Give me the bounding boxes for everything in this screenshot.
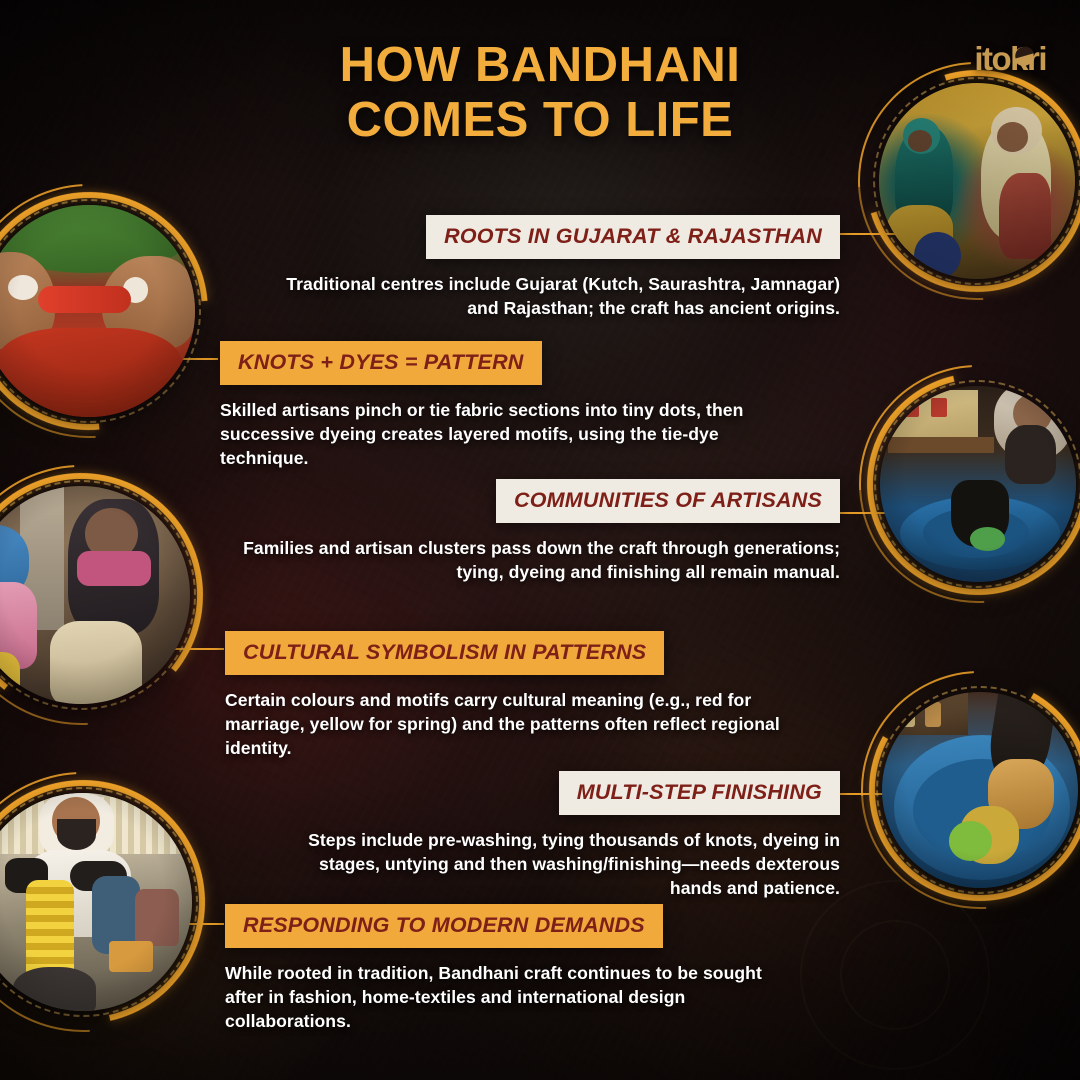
section-body-text: Traditional centres include Gujarat (Kut… <box>265 273 840 321</box>
section-heading-banner[interactable]: KNOTS + DYES = PATTERN <box>220 341 542 385</box>
photo-dyeing-blue-tub <box>882 692 1078 888</box>
section-cultural-symbolism-in-patterns: CULTURAL SYMBOLISM IN PATTERNS Certain c… <box>225 631 785 760</box>
photo-image <box>0 486 190 704</box>
page-title: HOW BANDHANI COMES TO LIFE <box>0 38 1080 148</box>
title-line-2: COMES TO LIFE <box>0 93 1080 148</box>
section-knots-dyes-pattern: KNOTS + DYES = PATTERN Skilled artisans … <box>220 341 765 470</box>
section-roots-in-gujarat-rajasthan: ROOTS IN GUJARAT & RAJASTHAN Traditional… <box>265 215 840 321</box>
section-body-text: Families and artisan clusters pass down … <box>240 537 840 585</box>
photo-image <box>0 205 195 417</box>
brand-logo-text: itokri <box>974 40 1046 78</box>
photo-image <box>0 793 192 1011</box>
section-heading-banner[interactable]: RESPONDING TO MODERN DEMANDS <box>225 904 663 948</box>
photo-dyer-blue-vat <box>880 386 1076 582</box>
photo-image <box>882 692 1078 888</box>
section-multi-step-finishing: MULTI-STEP FINISHING Steps include pre-w… <box>300 771 840 900</box>
section-heading-banner[interactable]: COMMUNITIES OF ARTISANS <box>496 479 840 523</box>
section-communities-of-artisans: COMMUNITIES OF ARTISANS Families and art… <box>240 479 840 585</box>
section-body-text: Certain colours and motifs carry cultura… <box>225 689 785 760</box>
section-heading-banner[interactable]: MULTI-STEP FINISHING <box>559 771 840 815</box>
brand-logo[interactable]: itokri <box>974 40 1046 78</box>
photo-hands-tying-red-fabric <box>0 205 195 417</box>
section-body-text: While rooted in tradition, Bandhani craf… <box>225 962 785 1033</box>
section-body-text: Skilled artisans pinch or tie fabric sec… <box>220 399 765 470</box>
section-responding-to-modern-demands: RESPONDING TO MODERN DEMANDS While roote… <box>225 904 785 1033</box>
photo-woman-tying-cream-fabric <box>0 486 190 704</box>
section-heading-banner[interactable]: CULTURAL SYMBOLISM IN PATTERNS <box>225 631 664 675</box>
section-heading-banner[interactable]: ROOTS IN GUJARAT & RAJASTHAN <box>426 215 840 259</box>
section-body-text: Steps include pre-washing, tying thousan… <box>300 829 840 900</box>
photo-dyer-yellow-cloth <box>0 793 192 1011</box>
title-line-1: HOW BANDHANI <box>0 38 1080 93</box>
photo-image <box>880 386 1076 582</box>
